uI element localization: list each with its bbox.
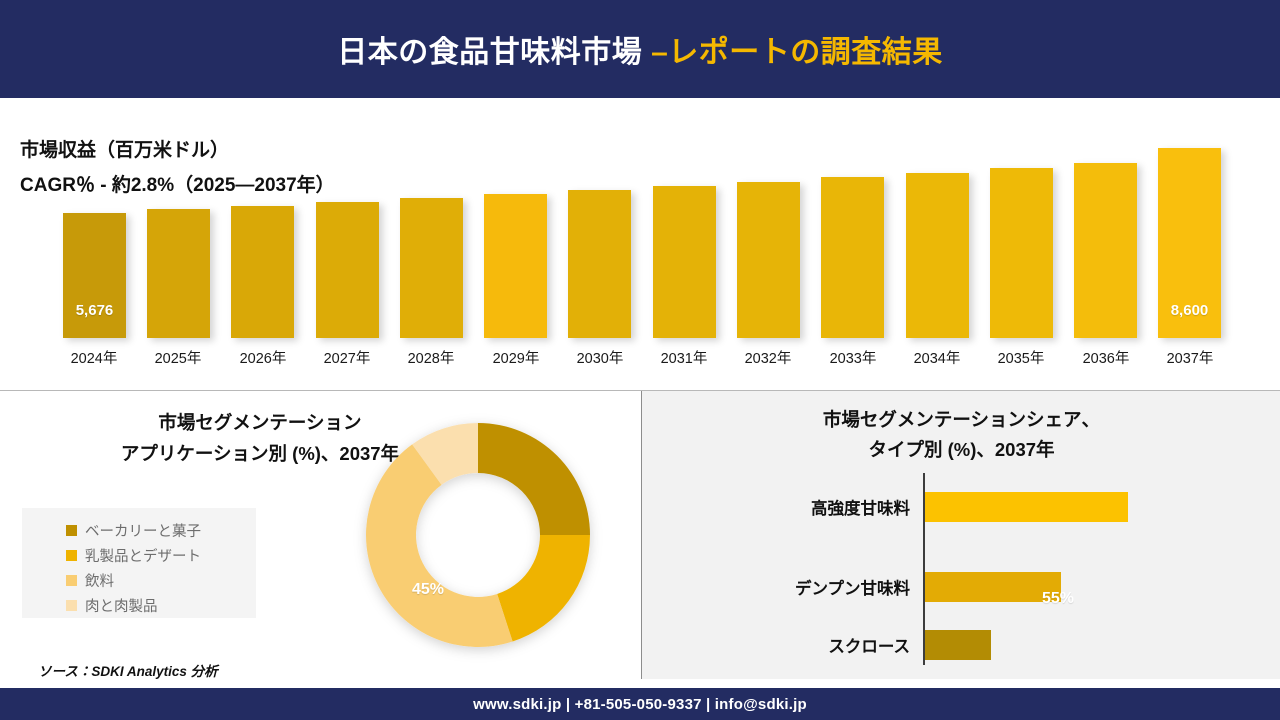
page-title-main: 日本の食品甘味料市場 xyxy=(337,36,651,69)
hbar-category-label: 高強度甘味料 xyxy=(642,487,910,527)
column-bar xyxy=(1074,163,1137,338)
hbar-row: デンプン甘味料 xyxy=(642,567,1280,607)
column-bar-slot xyxy=(906,173,969,338)
column-category-label: 2037年 xyxy=(1150,347,1230,368)
column-bar: 8,600 xyxy=(1158,148,1221,338)
hbar-category-label: デンプン甘味料 xyxy=(642,567,910,607)
column-bar xyxy=(737,182,800,338)
column-bar-slot xyxy=(653,186,716,338)
column-category-label: 2032年 xyxy=(728,347,808,368)
application-legend: ベーカリーと菓子乳製品とデザート飲料肉と肉製品 xyxy=(22,508,256,618)
column-bar-slot xyxy=(1074,163,1137,338)
infographic-page: 日本の食品甘味料市場 –レポートの調査結果 市場収益（百万米ドル） CAGR％ … xyxy=(0,0,1280,720)
column-bar-slot xyxy=(737,182,800,338)
column-bar-slot: 8,600 xyxy=(1158,148,1221,338)
column-bar: 5,676 xyxy=(63,213,126,338)
column-bar xyxy=(906,173,969,338)
column-category-label: 2027年 xyxy=(307,347,387,368)
type-panel-title: 市場セグメンテーションシェア、 タイプ別 (%)、2037年 xyxy=(642,405,1280,465)
column-bars-area: 5,6768,600 xyxy=(52,100,1232,338)
legend-swatch-icon xyxy=(66,575,77,586)
source-note: ソース：SDKI Analytics 分析 xyxy=(38,660,218,680)
column-bar xyxy=(484,194,547,338)
donut-svg: ベーカリーと菓子: 25%乳製品とデザート: 20%飲料: 45%肉と肉製品: … xyxy=(340,403,616,667)
type-panel-title-line2: タイプ別 (%)、2037年 xyxy=(642,435,1280,465)
donut-slice[interactable]: 乳製品とデザート: 20% xyxy=(497,535,590,642)
hbar-share-value: 55% xyxy=(1042,590,1074,608)
legend-swatch-icon xyxy=(66,525,77,536)
legend-item-label: ベーカリーと菓子 xyxy=(85,520,201,541)
column-category-label: 2030年 xyxy=(560,347,640,368)
hbar-bar xyxy=(925,492,1128,522)
column-category-label: 2028年 xyxy=(391,347,471,368)
donut-slice[interactable]: ベーカリーと菓子: 25% xyxy=(478,423,590,535)
column-bar-slot xyxy=(821,177,884,338)
footer-contact-text: www.sdki.jp | +81-505-050-9337 | info@sd… xyxy=(473,696,807,713)
column-bar-slot xyxy=(147,209,210,338)
hbar-row: スクロース xyxy=(642,625,1280,665)
column-bar-slot xyxy=(231,206,294,338)
column-bar-slot: 5,676 xyxy=(63,213,126,338)
column-category-label: 2026年 xyxy=(223,347,303,368)
column-bar xyxy=(568,190,631,338)
header-band: 日本の食品甘味料市場 –レポートの調査結果 xyxy=(0,0,1280,98)
column-bar-value-label: 5,676 xyxy=(63,302,126,319)
hbar-bar xyxy=(925,630,991,660)
legend-item[interactable]: 乳製品とデザート xyxy=(66,543,256,568)
column-category-label: 2036年 xyxy=(1066,347,1146,368)
legend-item[interactable]: 飲料 xyxy=(66,568,256,593)
legend-swatch-icon xyxy=(66,600,77,611)
revenue-column-chart: 5,6768,600 2024年2025年2026年2027年2028年2029… xyxy=(0,100,1280,388)
type-hbar-chart: 高強度甘味料デンプン甘味料スクロース 55% xyxy=(642,473,1280,673)
donut-slice-label: 45% xyxy=(412,581,444,599)
column-bar-slot xyxy=(316,202,379,338)
column-category-label: 2034年 xyxy=(897,347,977,368)
hbar-row: 高強度甘味料 xyxy=(642,487,1280,527)
column-category-label: 2033年 xyxy=(813,347,893,368)
column-category-label: 2031年 xyxy=(644,347,724,368)
page-title-accent: –レポートの調査結果 xyxy=(651,36,943,69)
page-title: 日本の食品甘味料市場 –レポートの調査結果 xyxy=(337,27,943,71)
footer-band: www.sdki.jp | +81-505-050-9337 | info@sd… xyxy=(0,688,1280,720)
column-bar xyxy=(147,209,210,338)
column-category-label: 2025年 xyxy=(138,347,218,368)
legend-swatch-icon xyxy=(66,550,77,561)
column-category-label: 2029年 xyxy=(476,347,556,368)
legend-item[interactable]: 肉と肉製品 xyxy=(66,593,256,618)
column-category-label: 2024年 xyxy=(54,347,134,368)
column-bar-slot xyxy=(484,194,547,338)
hbar-bar xyxy=(925,572,1061,602)
column-category-labels: 2024年2025年2026年2027年2028年2029年2030年2031年… xyxy=(52,340,1232,370)
column-bar-slot xyxy=(990,168,1053,338)
column-bar-slot xyxy=(400,198,463,338)
legend-item-label: 乳製品とデザート xyxy=(85,545,201,566)
column-bar xyxy=(821,177,884,338)
application-donut-chart: ベーカリーと菓子: 25%乳製品とデザート: 20%飲料: 45%肉と肉製品: … xyxy=(340,403,616,667)
column-bar-slot xyxy=(568,190,631,338)
column-bar xyxy=(400,198,463,338)
column-bar xyxy=(653,186,716,338)
column-bar xyxy=(990,168,1053,338)
column-bar-value-label: 8,600 xyxy=(1158,302,1221,319)
legend-item[interactable]: ベーカリーと菓子 xyxy=(66,518,256,543)
legend-item-label: 飲料 xyxy=(85,570,114,591)
type-panel-title-line1: 市場セグメンテーションシェア、 xyxy=(642,405,1280,435)
legend-item-label: 肉と肉製品 xyxy=(85,595,158,616)
column-category-label: 2035年 xyxy=(981,347,1061,368)
hbar-category-label: スクロース xyxy=(642,625,910,665)
application-segmentation-panel: 市場セグメンテーション アプリケーション別 (%)、2037年 ベーカリーと菓子… xyxy=(0,391,641,679)
type-segmentation-panel: 市場セグメンテーションシェア、 タイプ別 (%)、2037年 高強度甘味料デンプ… xyxy=(641,391,1280,679)
column-bar xyxy=(316,202,379,338)
column-bar xyxy=(231,206,294,338)
